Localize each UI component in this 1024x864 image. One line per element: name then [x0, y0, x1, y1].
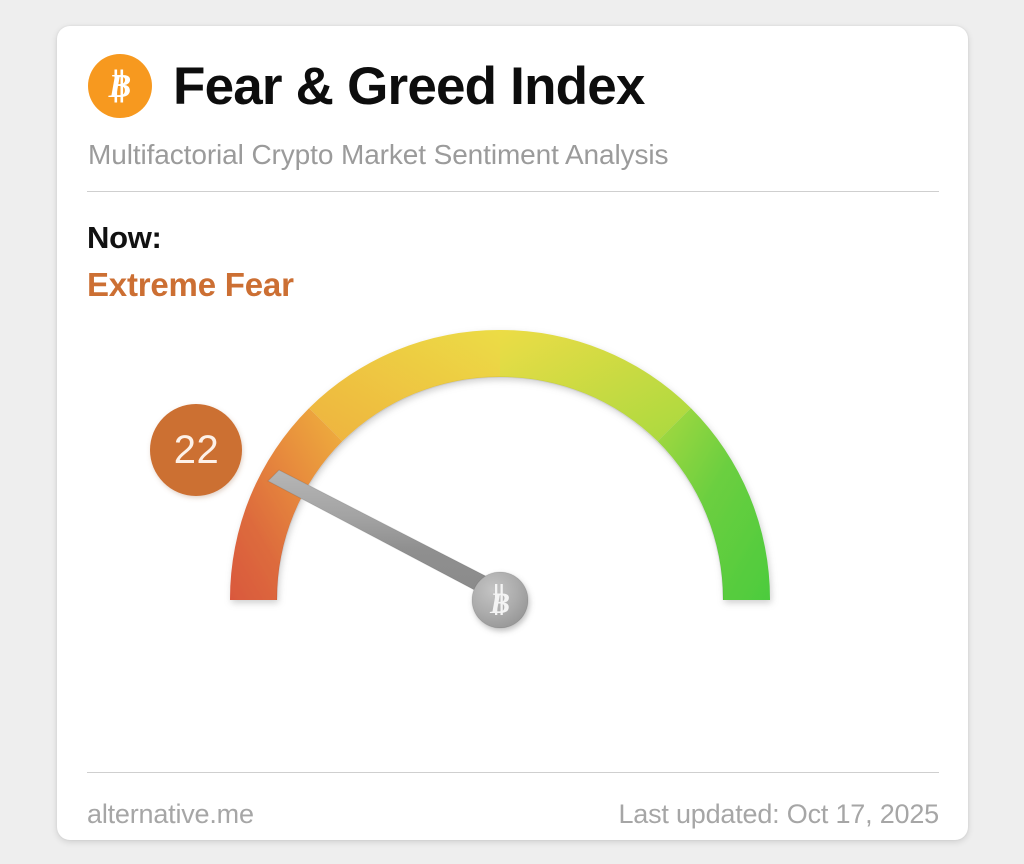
- now-label: Now:: [87, 220, 162, 256]
- page-subtitle: Multifactorial Crypto Market Sentiment A…: [88, 139, 668, 171]
- status-classification: Extreme Fear: [87, 266, 294, 304]
- card-header: B Fear & Greed Index: [88, 54, 645, 118]
- gauge-arc: [230, 330, 770, 600]
- gauge-value: 22: [174, 428, 220, 473]
- gauge-needle: [268, 470, 509, 604]
- gauge-value-bubble: 22: [150, 404, 243, 497]
- divider-bottom: [87, 772, 939, 773]
- svg-text:B: B: [489, 587, 510, 620]
- source-link[interactable]: alternative.me: [87, 799, 254, 830]
- bitcoin-icon: B: [88, 54, 152, 118]
- fear-greed-index-widget: B Fear & Greed Index Multifactorial Cryp…: [0, 0, 1024, 864]
- index-card: B Fear & Greed Index Multifactorial Cryp…: [57, 26, 968, 840]
- page-title: Fear & Greed Index: [173, 60, 645, 113]
- last-updated: Last updated: Oct 17, 2025: [618, 799, 939, 830]
- divider-top: [87, 191, 939, 192]
- card-footer: alternative.me Last updated: Oct 17, 202…: [87, 799, 939, 830]
- gauge-hub-bitcoin-icon: B: [472, 572, 528, 628]
- gauge-value-bubble-shape: [150, 404, 242, 496]
- svg-text:B: B: [108, 68, 132, 105]
